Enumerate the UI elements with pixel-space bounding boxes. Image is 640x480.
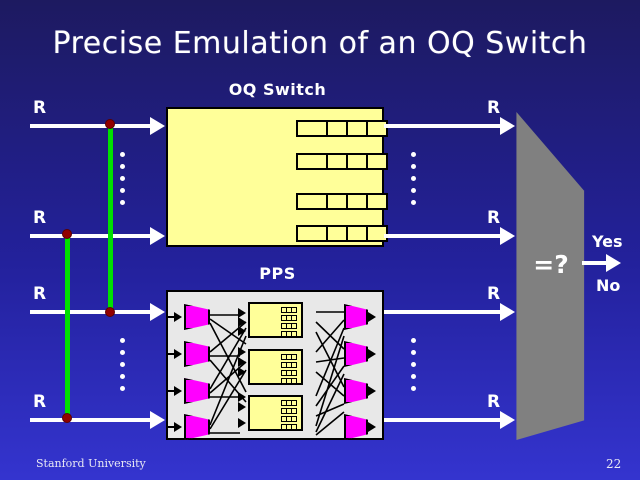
pps-mux-2[interactable] xyxy=(344,341,368,367)
pps-mux-arrow-4 xyxy=(368,422,376,432)
queue-cell xyxy=(326,120,348,137)
pps-box[interactable] xyxy=(166,290,384,440)
comparator-yes-label: Yes xyxy=(592,232,623,251)
output-rate-label-1: R xyxy=(487,98,500,118)
pps-mux-1[interactable] xyxy=(344,304,368,330)
pps-mux-3[interactable] xyxy=(344,378,368,404)
queue-cell xyxy=(346,225,368,242)
center-queue xyxy=(282,307,297,313)
input-arrowhead-1 xyxy=(150,117,165,135)
pps-mux-arrow-3 xyxy=(368,386,376,396)
tap-node-2-bottom xyxy=(63,414,71,422)
output-line-1 xyxy=(384,124,502,128)
pps-mux-arrow-2 xyxy=(368,349,376,359)
pps-demux-4[interactable] xyxy=(184,414,210,440)
comparator-symbol: =? xyxy=(515,250,587,279)
input-rate-label-4: R xyxy=(33,392,46,412)
pps-mux-arrow-1 xyxy=(368,312,376,322)
comparator-no-label: No xyxy=(596,276,620,295)
center-queue xyxy=(282,323,297,329)
queue-cell xyxy=(366,193,388,210)
tap-link-2 xyxy=(65,234,70,420)
center-queue xyxy=(282,370,297,376)
output-line-2 xyxy=(384,234,502,238)
oq-switch-label: OQ Switch xyxy=(170,80,385,99)
pps-demux-3[interactable] xyxy=(184,378,210,404)
queue-cell xyxy=(296,153,328,170)
pps-demux-stub-1 xyxy=(168,316,176,318)
comparator-result-arrowhead xyxy=(606,254,621,272)
output-rate-label-2: R xyxy=(487,208,500,228)
center-in-arrow xyxy=(238,418,246,428)
center-queue xyxy=(282,362,297,368)
input-line-1 xyxy=(30,124,152,128)
queue-cell xyxy=(326,153,348,170)
pps-demux-stub-2 xyxy=(168,353,176,355)
center-in-arrow xyxy=(238,326,246,336)
output-ellipsis-top xyxy=(411,152,417,212)
tap-node-1-bottom xyxy=(106,308,114,316)
center-queue xyxy=(282,378,297,384)
page-number: 22 xyxy=(606,457,621,471)
queue-cell xyxy=(326,193,348,210)
output-line-3 xyxy=(384,310,502,314)
center-queue xyxy=(282,400,297,406)
pps-demux-stub-4 xyxy=(168,426,176,428)
input-line-2 xyxy=(30,234,152,238)
pps-center-switch-1[interactable] xyxy=(248,302,303,338)
input-line-3 xyxy=(30,310,152,314)
input-rate-label-2: R xyxy=(33,208,46,228)
footer-institution: Stanford University xyxy=(36,457,146,470)
center-in-arrow xyxy=(238,367,246,377)
output-ellipsis-bottom xyxy=(411,338,417,398)
queue-cell xyxy=(296,120,328,137)
queue-cell xyxy=(366,120,388,137)
center-queue xyxy=(282,331,297,337)
center-in-arrow xyxy=(238,357,246,367)
tap-node-1-top xyxy=(106,120,114,128)
input-ellipsis-top xyxy=(120,152,126,212)
pps-center-switch-3[interactable] xyxy=(248,395,303,431)
output-rate-label-3: R xyxy=(487,284,500,304)
output-arrowhead-2 xyxy=(500,227,515,245)
pps-demux-1[interactable] xyxy=(184,304,210,330)
center-queue xyxy=(282,315,297,321)
queue-cell xyxy=(296,225,328,242)
center-in-arrow xyxy=(238,347,246,357)
queue-cell xyxy=(346,120,368,137)
center-queue xyxy=(282,408,297,414)
pps-demux-2[interactable] xyxy=(184,341,210,367)
input-rate-label-1: R xyxy=(33,98,46,118)
queue-cell xyxy=(296,193,328,210)
input-arrowhead-4 xyxy=(150,411,165,429)
output-arrowhead-3 xyxy=(500,303,515,321)
pps-center-switch-2[interactable] xyxy=(248,349,303,385)
tap-link-1 xyxy=(108,124,113,314)
input-line-4 xyxy=(30,418,152,422)
tap-node-2-top xyxy=(63,230,71,238)
pps-label: PPS xyxy=(170,264,385,283)
center-queue xyxy=(282,416,297,422)
output-rate-label-4: R xyxy=(487,392,500,412)
center-in-arrow xyxy=(238,402,246,412)
center-queue xyxy=(282,354,297,360)
pps-demux-stub-3 xyxy=(168,390,176,392)
queue-cell xyxy=(366,153,388,170)
center-in-arrow xyxy=(238,392,246,402)
output-arrowhead-4 xyxy=(500,411,515,429)
input-arrowhead-2 xyxy=(150,227,165,245)
pps-mux-4[interactable] xyxy=(344,414,368,440)
output-arrowhead-1 xyxy=(500,117,515,135)
queue-cell xyxy=(346,193,368,210)
page-title: Precise Emulation of an OQ Switch xyxy=(0,26,640,61)
center-queue xyxy=(282,424,297,430)
comparator-result-line xyxy=(582,261,608,265)
input-rate-label-3: R xyxy=(33,284,46,304)
input-arrowhead-3 xyxy=(150,303,165,321)
slide-canvas: Precise Emulation of an OQ Switch OQ Swi… xyxy=(0,0,640,480)
input-ellipsis-bottom xyxy=(120,338,126,398)
output-line-4 xyxy=(384,418,502,422)
queue-cell xyxy=(346,153,368,170)
queue-cell xyxy=(326,225,348,242)
oq-switch-box[interactable] xyxy=(166,107,384,247)
